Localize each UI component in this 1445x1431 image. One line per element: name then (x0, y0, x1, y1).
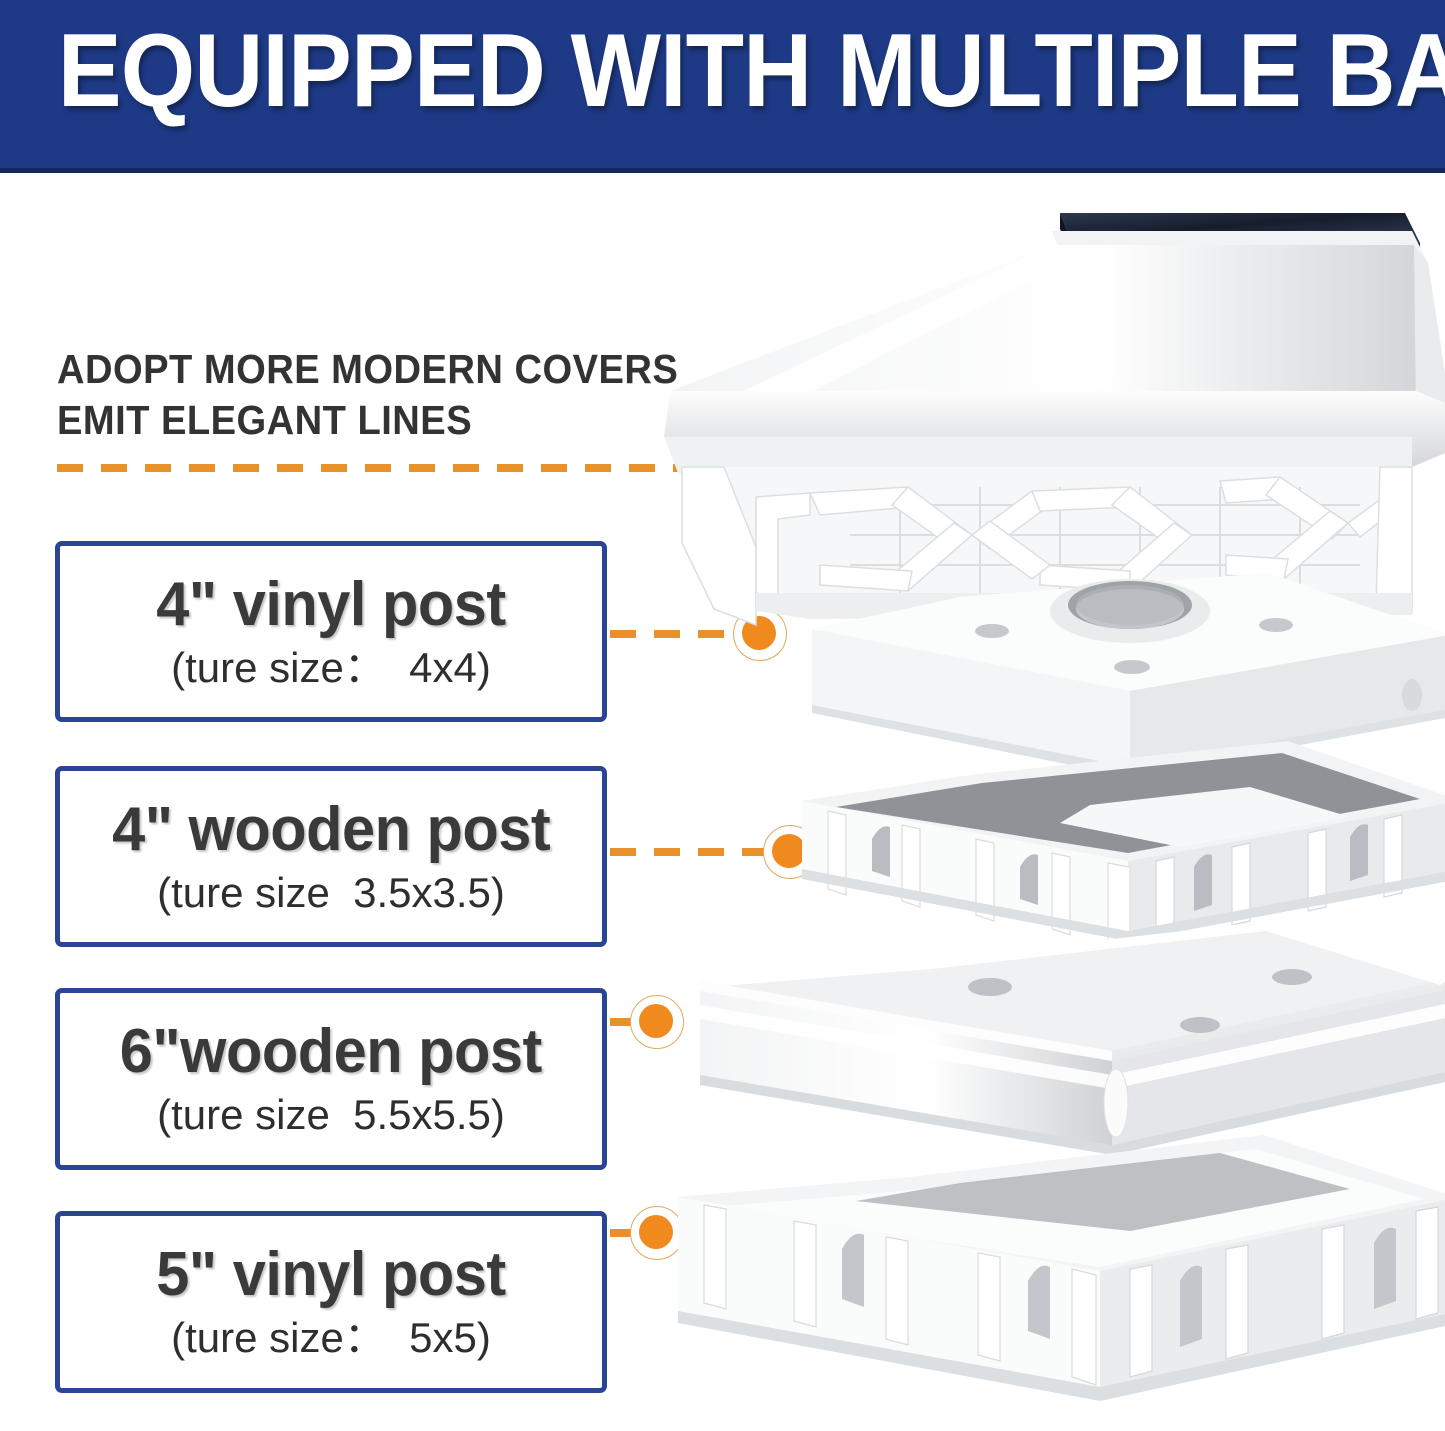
part-solar-cap-light (664, 213, 1445, 625)
intro-heading-line-2: EMIT ELEGANT LINES (57, 395, 689, 446)
part-wooden-6-base-plate (700, 921, 1445, 1155)
callout-subtitle-wooden-6: (ture size 5.5x5.5) (157, 1090, 505, 1140)
intro-heading-line-1: ADOPT MORE MODERN COVERS (57, 344, 689, 395)
product-exploded-illustration (660, 205, 1445, 1431)
callout-title-wooden-6: 6"wooden post (120, 1018, 542, 1086)
callout-subtitle-vinyl-4: (ture size： 4x4) (171, 643, 491, 693)
callout-title-vinyl-5: 5" vinyl post (156, 1241, 505, 1309)
infographic-page: EQUIPPED WITH MULTIPLE BASES ADOPT MORE … (0, 0, 1445, 1431)
part-wooden-4-base-frame (802, 741, 1445, 949)
callout-title-vinyl-4: 4" vinyl post (156, 571, 505, 639)
callout-title-wooden-4: 4" wooden post (112, 796, 550, 864)
callout-box-vinyl-4: 4" vinyl post (ture size： 4x4) (55, 541, 607, 722)
connector-line-intro (57, 464, 723, 472)
header-underline-divider (0, 168, 1445, 173)
callout-box-wooden-4: 4" wooden post (ture size 3.5x3.5) (55, 766, 607, 947)
callout-subtitle-vinyl-5: (ture size： 5x5) (171, 1313, 491, 1363)
callout-box-wooden-6: 6"wooden post (ture size 5.5x5.5) (55, 988, 607, 1170)
intro-heading: ADOPT MORE MODERN COVERS EMIT ELEGANT LI… (57, 344, 689, 446)
part-vinyl-5-base-frame (678, 1135, 1445, 1401)
page-title: EQUIPPED WITH MULTIPLE BASES (58, 12, 1387, 130)
callout-subtitle-wooden-4: (ture size 3.5x3.5) (157, 868, 505, 918)
callout-box-vinyl-5: 5" vinyl post (ture size： 5x5) (55, 1211, 607, 1393)
